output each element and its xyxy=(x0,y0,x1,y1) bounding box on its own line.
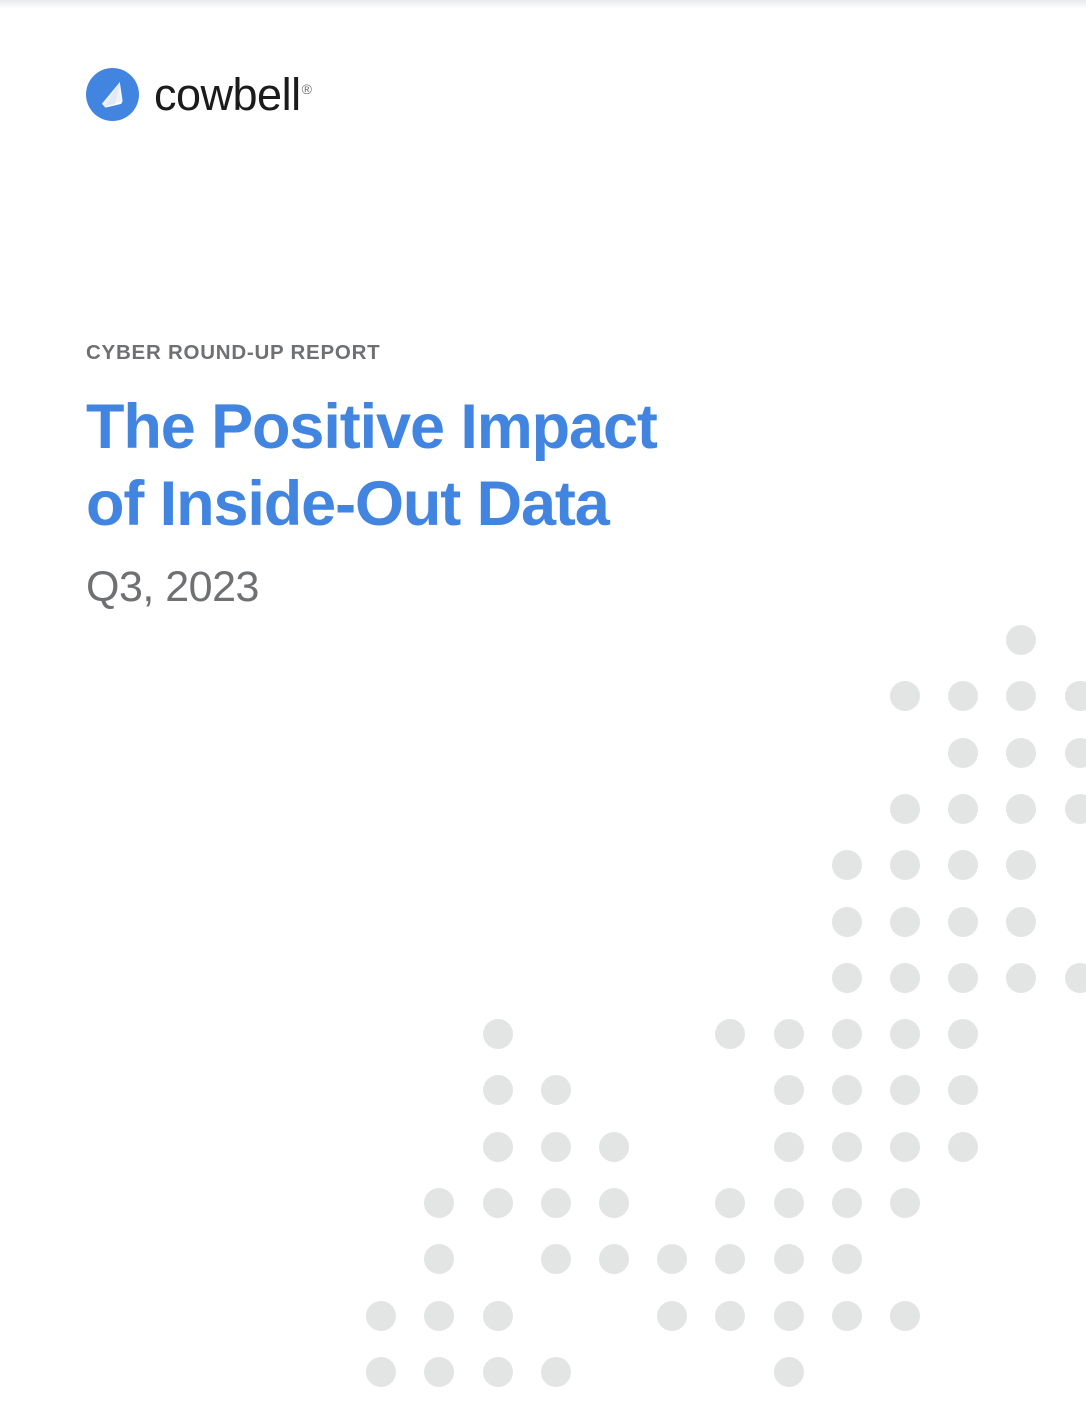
pattern-dot xyxy=(832,1132,862,1162)
pattern-dot xyxy=(715,1019,745,1049)
cover-title-block: CYBER ROUND-UP REPORT The Positive Impac… xyxy=(86,342,846,611)
pattern-dot xyxy=(948,738,978,768)
pattern-dot xyxy=(599,1132,629,1162)
pattern-dot xyxy=(1006,907,1036,937)
pattern-dot xyxy=(948,1019,978,1049)
pattern-dot xyxy=(890,681,920,711)
pattern-dot xyxy=(657,1301,687,1331)
pattern-dot xyxy=(1065,963,1086,993)
pattern-dot xyxy=(366,1357,396,1387)
report-cover-page: cowbell® CYBER ROUND-UP REPORT The Posit… xyxy=(0,0,1086,1404)
pattern-dot xyxy=(774,1188,804,1218)
pattern-dot xyxy=(715,1301,745,1331)
pattern-dot xyxy=(541,1357,571,1387)
report-category-label: CYBER ROUND-UP REPORT xyxy=(86,342,846,365)
pattern-dot xyxy=(657,1244,687,1274)
pattern-dot xyxy=(774,1244,804,1274)
page-title-line-1: The Positive Impact xyxy=(86,389,846,466)
pattern-dot xyxy=(890,1188,920,1218)
pattern-dot xyxy=(832,1244,862,1274)
pattern-dot xyxy=(832,1019,862,1049)
pattern-dot xyxy=(774,1301,804,1331)
pattern-dot xyxy=(890,1075,920,1105)
pattern-dot xyxy=(832,1188,862,1218)
pattern-dot xyxy=(483,1019,513,1049)
pattern-dot xyxy=(424,1188,454,1218)
pattern-dot xyxy=(541,1132,571,1162)
pattern-dot xyxy=(424,1357,454,1387)
page-title: The Positive Impact of Inside-Out Data xyxy=(86,389,846,544)
pattern-dot xyxy=(1065,738,1086,768)
pattern-dot xyxy=(890,907,920,937)
pattern-dot xyxy=(1006,681,1036,711)
pattern-dot xyxy=(1006,625,1036,655)
pattern-dot xyxy=(1065,794,1086,824)
pattern-dot xyxy=(424,1301,454,1331)
pattern-dot xyxy=(483,1132,513,1162)
pattern-dot xyxy=(948,907,978,937)
pattern-dot xyxy=(890,1132,920,1162)
pattern-dot xyxy=(832,850,862,880)
pattern-dot xyxy=(890,1019,920,1049)
pattern-dot xyxy=(483,1188,513,1218)
pattern-dot xyxy=(715,1244,745,1274)
pattern-dot xyxy=(832,963,862,993)
brand-wordmark: cowbell® xyxy=(154,72,311,117)
pattern-dot xyxy=(774,1075,804,1105)
pattern-dot xyxy=(483,1357,513,1387)
pattern-dot xyxy=(948,1075,978,1105)
pattern-dot xyxy=(715,1188,745,1218)
pattern-dot xyxy=(424,1244,454,1274)
pattern-dot xyxy=(599,1244,629,1274)
brand-logo[interactable]: cowbell® xyxy=(86,68,311,121)
page-title-line-2: of Inside-Out Data xyxy=(86,466,846,543)
brand-wordmark-text: cowbell xyxy=(154,69,301,120)
pattern-dot xyxy=(890,963,920,993)
pattern-dot xyxy=(541,1188,571,1218)
page-top-edge xyxy=(0,0,1086,9)
pattern-dot xyxy=(541,1075,571,1105)
pattern-dot xyxy=(948,794,978,824)
pattern-dot xyxy=(1065,681,1086,711)
cowbell-logo-icon xyxy=(86,68,139,121)
pattern-dot xyxy=(948,963,978,993)
pattern-dot xyxy=(774,1132,804,1162)
pattern-dot xyxy=(832,907,862,937)
pattern-dot xyxy=(890,1301,920,1331)
report-period-subtitle: Q3, 2023 xyxy=(86,564,846,611)
pattern-dot xyxy=(483,1301,513,1331)
pattern-dot xyxy=(832,1301,862,1331)
pattern-dot xyxy=(890,794,920,824)
pattern-dot xyxy=(774,1019,804,1049)
pattern-dot xyxy=(948,681,978,711)
registered-trademark-icon: ® xyxy=(302,81,312,97)
pattern-dot xyxy=(541,1244,571,1274)
pattern-dot xyxy=(774,1357,804,1387)
pattern-dot xyxy=(1006,738,1036,768)
pattern-dot xyxy=(832,1075,862,1105)
pattern-dot xyxy=(1006,850,1036,880)
pattern-dot xyxy=(483,1075,513,1105)
pattern-dot xyxy=(948,850,978,880)
pattern-dot xyxy=(948,1132,978,1162)
pattern-dot xyxy=(366,1301,396,1331)
pattern-dot xyxy=(1006,963,1036,993)
pattern-dot xyxy=(1006,794,1036,824)
pattern-dot xyxy=(890,850,920,880)
pattern-dot xyxy=(599,1188,629,1218)
halftone-dot-pattern xyxy=(0,0,1086,1404)
